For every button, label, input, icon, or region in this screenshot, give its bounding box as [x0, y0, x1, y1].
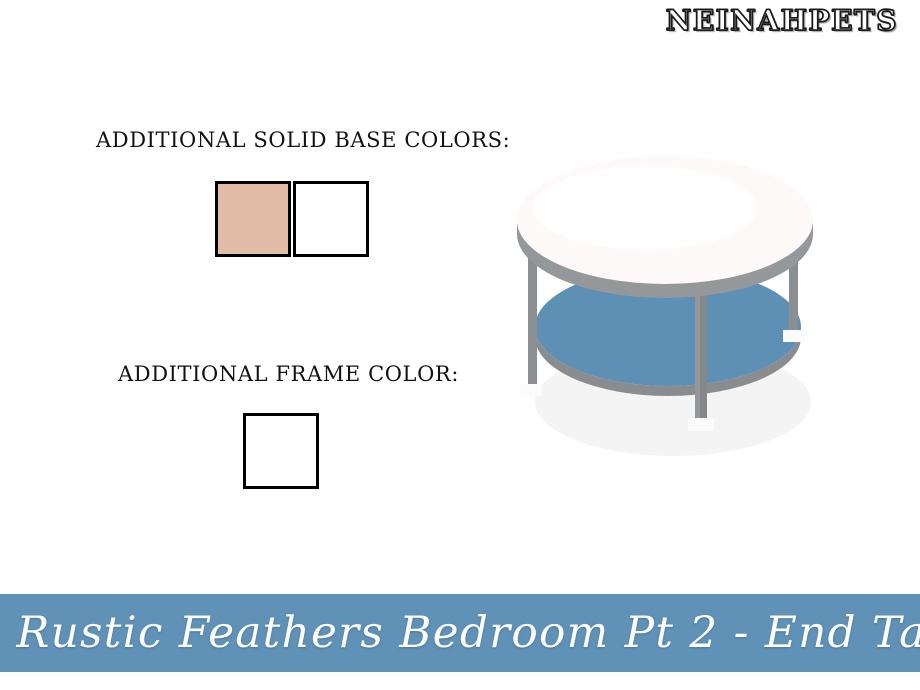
frame-color-swatch-row: [243, 413, 319, 489]
table-foot-pad-center: [688, 418, 714, 431]
frame-color-heading: ADDITIONAL FRAME COLOR:: [118, 362, 459, 386]
preview-canvas: NEINAHPETS ADDITIONAL SOLID BASE COLORS:…: [0, 0, 920, 690]
table-foot-pad-left: [520, 384, 542, 396]
title-banner-text: Rustic Feathers Bedroom Pt 2 - End Table…: [0, 608, 920, 658]
frame-color-swatch-white[interactable]: [243, 413, 319, 489]
solid-base-colors-swatch-row: [215, 181, 369, 257]
solid-base-colors-heading: ADDITIONAL SOLID BASE COLORS:: [96, 128, 510, 152]
table-foot-pad-right: [783, 330, 805, 342]
table-top-surface-sheen: [533, 166, 757, 250]
base-color-swatch-tan[interactable]: [215, 181, 291, 257]
end-table-3d-render: [495, 150, 835, 460]
title-banner: Rustic Feathers Bedroom Pt 2 - End Table…: [0, 594, 920, 672]
base-color-swatch-white[interactable]: [293, 181, 369, 257]
brand-logo: NEINAHPETS: [666, 4, 898, 38]
